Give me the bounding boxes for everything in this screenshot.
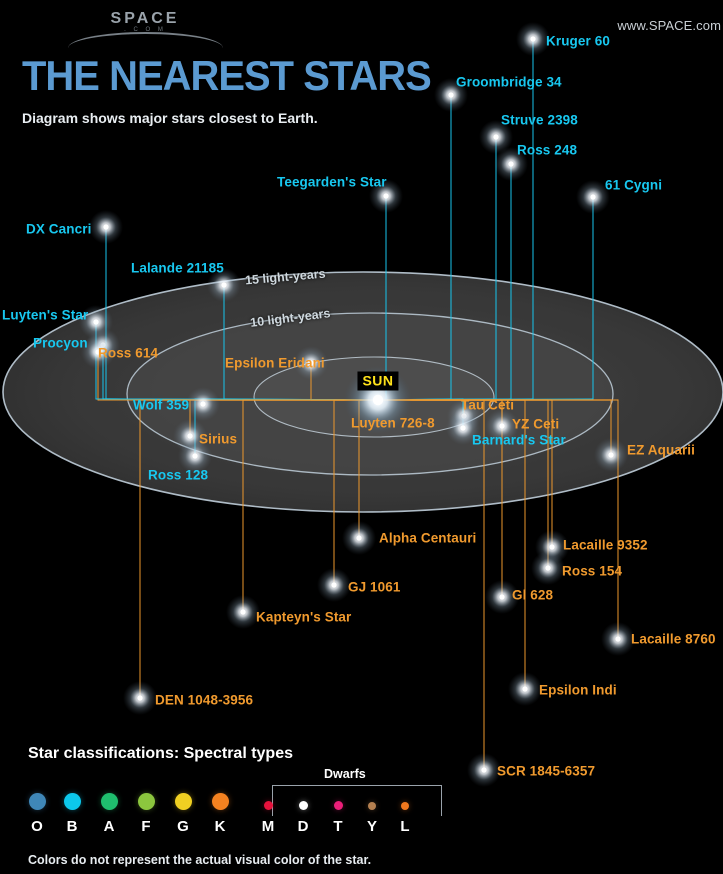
spectral-type-letter: M bbox=[250, 818, 286, 835]
spectral-dot-icon bbox=[64, 793, 81, 810]
dot-spacer bbox=[387, 793, 423, 802]
spectral-type-t[interactable]: T bbox=[320, 793, 356, 835]
dot-spacer bbox=[285, 793, 321, 801]
star-label[interactable]: Procyon bbox=[33, 336, 88, 351]
star-label[interactable]: DX Cancri bbox=[26, 222, 91, 237]
star-label[interactable]: Epsilon Indi bbox=[539, 683, 617, 698]
spectral-type-swatches: OBAFGKMDTYL bbox=[28, 793, 708, 853]
star-label[interactable]: Sirius bbox=[199, 432, 237, 447]
dot-spacer bbox=[320, 793, 356, 801]
spectral-type-f[interactable]: F bbox=[128, 793, 164, 835]
star-point[interactable] bbox=[531, 551, 565, 585]
infographic-canvas: SPACE . C O M www.SPACE.com THE NEAREST … bbox=[0, 0, 723, 874]
sun-label: SUN bbox=[357, 372, 398, 391]
star-point[interactable] bbox=[89, 210, 123, 244]
star-label[interactable]: EZ Aquarii bbox=[627, 443, 695, 458]
logo-arc-icon bbox=[68, 32, 223, 48]
spectral-type-k[interactable]: K bbox=[202, 793, 238, 835]
star-label[interactable]: Barnard's Star bbox=[472, 433, 566, 448]
spectral-dot-icon bbox=[138, 793, 155, 810]
star-label[interactable]: Luyten 726-8 bbox=[351, 416, 435, 431]
star-label[interactable]: Groombridge 34 bbox=[456, 75, 562, 90]
dot-spacer bbox=[354, 793, 390, 802]
star-point[interactable] bbox=[508, 672, 542, 706]
spectral-type-b[interactable]: B bbox=[54, 793, 90, 835]
spectral-dot-icon bbox=[264, 801, 273, 810]
star-label[interactable]: GJ 1061 bbox=[348, 580, 401, 595]
star-label[interactable]: YZ Ceti bbox=[512, 417, 559, 432]
star-label[interactable]: Lalande 21185 bbox=[131, 261, 224, 276]
dot-spacer bbox=[250, 793, 286, 801]
dwarfs-caption: Dwarfs bbox=[324, 767, 366, 781]
star-diagram-svg bbox=[0, 0, 723, 874]
watermark-url: www.SPACE.com bbox=[617, 18, 721, 33]
star-label[interactable]: Luyten's Star bbox=[2, 308, 88, 323]
spectral-type-letter: D bbox=[285, 818, 321, 835]
legend-note: Colors do not represent the actual visua… bbox=[28, 853, 371, 867]
star-label[interactable]: Wolf 359 bbox=[133, 398, 189, 413]
spectral-dot-icon bbox=[334, 801, 343, 810]
star-point[interactable] bbox=[123, 681, 157, 715]
spectral-type-letter: Y bbox=[354, 818, 390, 835]
space-com-logo[interactable]: SPACE . C O M bbox=[60, 10, 230, 42]
star-label[interactable]: Kapteyn's Star bbox=[256, 610, 351, 625]
star-point[interactable] bbox=[342, 521, 376, 555]
star-label[interactable]: 61 Cygni bbox=[605, 178, 662, 193]
spectral-type-o[interactable]: O bbox=[19, 793, 55, 835]
spectral-dot-icon bbox=[212, 793, 229, 810]
spectral-type-letter: B bbox=[54, 818, 90, 835]
star-point[interactable] bbox=[594, 438, 628, 472]
star-label[interactable]: Ross 154 bbox=[562, 564, 622, 579]
logo-wordmark: SPACE bbox=[60, 10, 230, 28]
spectral-type-letter: T bbox=[320, 818, 356, 835]
spectral-type-g[interactable]: G bbox=[165, 793, 201, 835]
star-label[interactable]: Ross 614 bbox=[98, 346, 158, 361]
legend-title: Star classifications: Spectral types bbox=[28, 745, 708, 763]
spectral-type-letter: G bbox=[165, 818, 201, 835]
star-point[interactable] bbox=[186, 387, 220, 421]
spectral-type-l[interactable]: L bbox=[387, 793, 423, 835]
star-point[interactable] bbox=[516, 22, 550, 56]
spectral-dot-icon bbox=[368, 802, 376, 810]
legend-panel: Star classifications: Spectral types Dwa… bbox=[28, 745, 708, 763]
spectral-type-letter: L bbox=[387, 818, 423, 835]
star-point[interactable] bbox=[601, 622, 635, 656]
spectral-type-a[interactable]: A bbox=[91, 793, 127, 835]
star-label[interactable]: Alpha Centauri bbox=[379, 531, 476, 546]
star-label[interactable]: DEN 1048-3956 bbox=[155, 693, 253, 708]
spectral-type-letter: K bbox=[202, 818, 238, 835]
star-label[interactable]: Tau Ceti bbox=[461, 398, 514, 413]
spectral-type-m[interactable]: M bbox=[250, 793, 286, 835]
spectral-dot-icon bbox=[175, 793, 192, 810]
spectral-type-y[interactable]: Y bbox=[354, 793, 390, 835]
star-label[interactable]: Struve 2398 bbox=[501, 113, 578, 128]
star-label[interactable]: Ross 248 bbox=[517, 143, 577, 158]
star-label[interactable]: Epsilon Eridani bbox=[225, 356, 325, 371]
star-point[interactable] bbox=[226, 595, 260, 629]
star-label[interactable]: Lacaille 9352 bbox=[563, 538, 648, 553]
spectral-dot-icon bbox=[29, 793, 46, 810]
spectral-type-letter: A bbox=[91, 818, 127, 835]
spectral-type-letter: O bbox=[19, 818, 55, 835]
spectral-dot-icon bbox=[101, 793, 118, 810]
star-point[interactable] bbox=[317, 568, 351, 602]
spectral-type-letter: F bbox=[128, 818, 164, 835]
page-subtitle: Diagram shows major stars closest to Ear… bbox=[22, 110, 318, 126]
star-label[interactable]: Kruger 60 bbox=[546, 34, 610, 49]
star-label[interactable]: Lacaille 8760 bbox=[631, 632, 716, 647]
star-label[interactable]: SCR 1845-6357 bbox=[497, 764, 595, 779]
spectral-type-d[interactable]: D bbox=[285, 793, 321, 835]
spectral-dot-icon bbox=[299, 801, 308, 810]
page-title: THE NEAREST STARS bbox=[22, 55, 431, 97]
star-label[interactable]: Gl 628 bbox=[512, 588, 553, 603]
star-label[interactable]: Teegarden's Star bbox=[277, 175, 387, 190]
star-label[interactable]: Ross 128 bbox=[148, 468, 208, 483]
spectral-dot-icon bbox=[401, 802, 409, 810]
